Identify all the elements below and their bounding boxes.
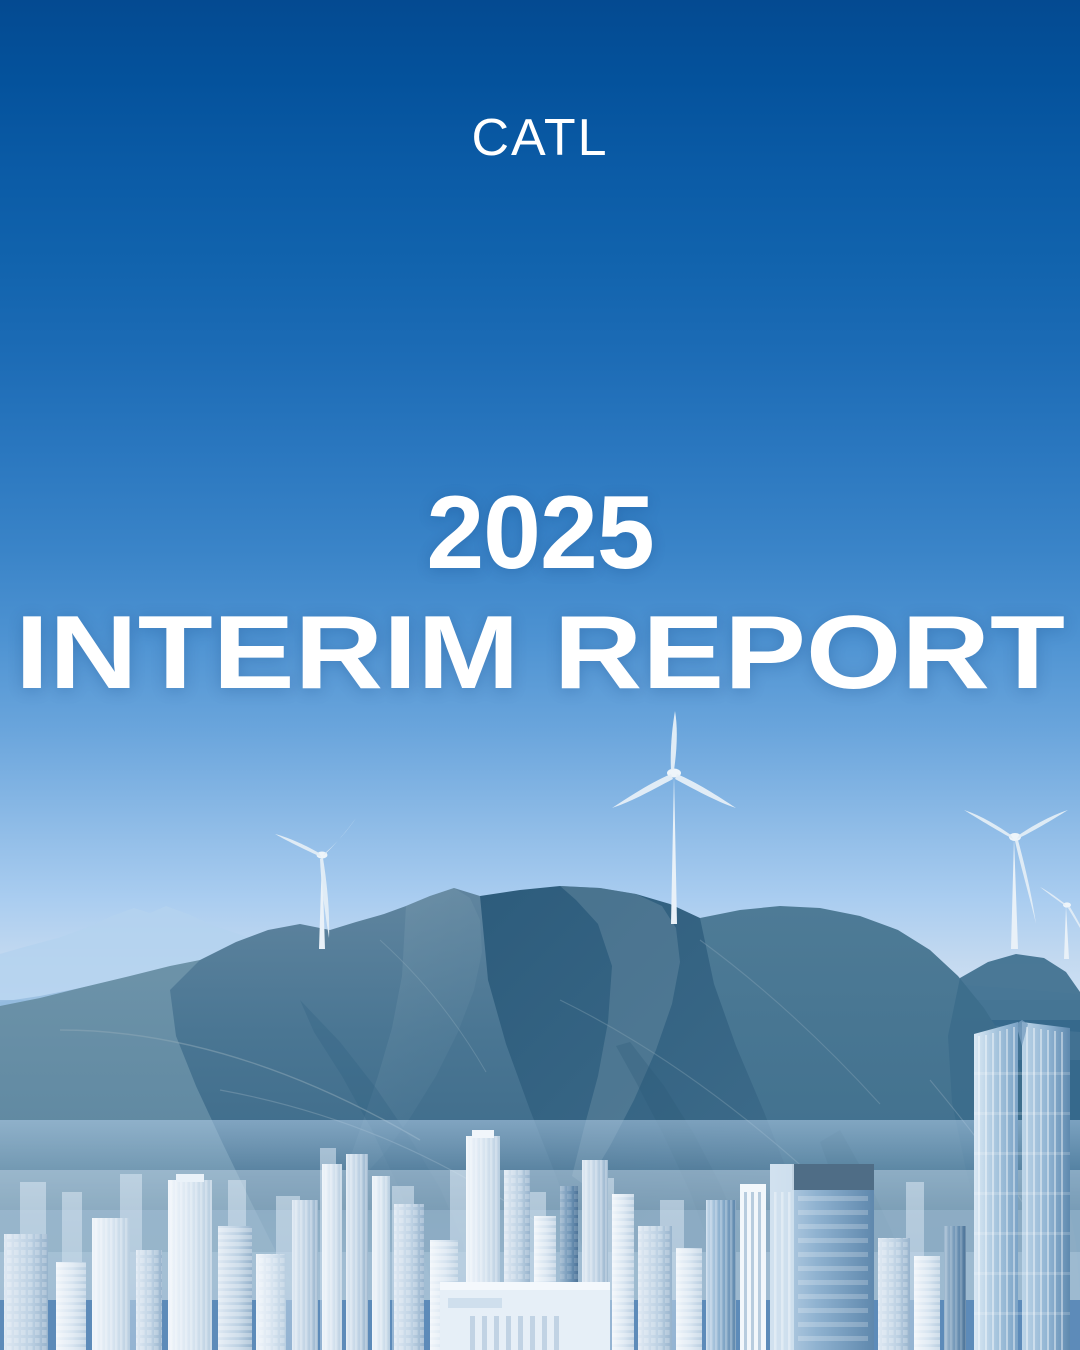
cover-title-block: 2025 INTERIM REPORT [0,480,1080,708]
report-cover: CATL 2025 INTERIM REPORT [0,0,1080,1350]
report-year: 2025 [0,480,1080,586]
landmark-twin-tower [966,1012,1080,1350]
wind-turbine-center [604,710,744,925]
wind-turbine-far-right [1040,880,1080,960]
wind-turbine-left [272,818,372,950]
catl-logo: CATL [0,112,1080,164]
city-skyline [0,1130,1080,1350]
page-title: INTERIM REPORT [0,598,1080,708]
